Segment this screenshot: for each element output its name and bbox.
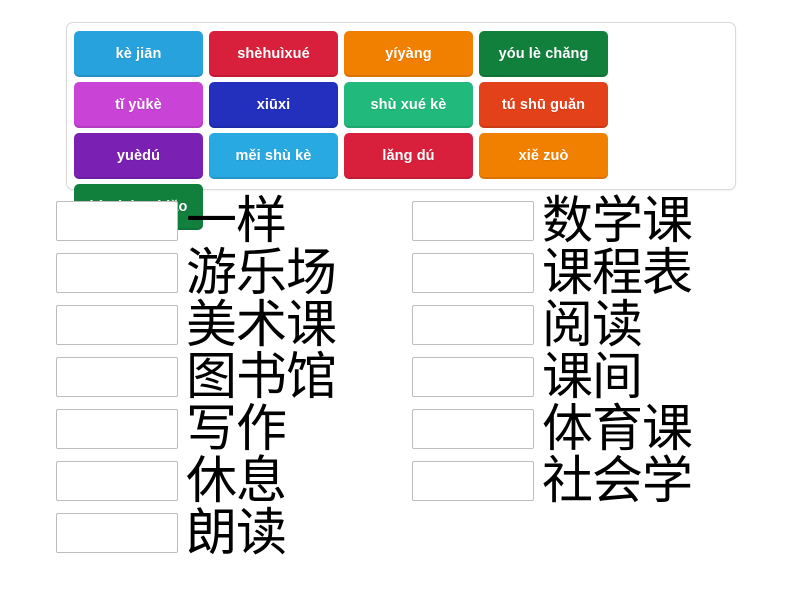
- answer-drop-box-left-4[interactable]: [56, 357, 178, 397]
- word-tile[interactable]: lǎng dú: [344, 133, 473, 179]
- answer-label: 图书馆: [186, 352, 336, 403]
- answer-label: 一样: [186, 196, 286, 247]
- answer-row: 社会学: [412, 460, 757, 502]
- word-tile[interactable]: tú shū guǎn: [479, 82, 608, 128]
- answer-row: 体育课: [412, 408, 757, 450]
- answer-row: 朗读: [56, 512, 401, 554]
- answer-row: 阅读: [412, 304, 757, 346]
- answer-row: 课间: [412, 356, 757, 398]
- answer-drop-box-left-1[interactable]: [56, 201, 178, 241]
- answer-label: 阅读: [542, 300, 642, 351]
- word-tile-tray: kè jiānshèhuìxuéyíyàngyóu lè chǎngtǐ yùk…: [66, 22, 736, 190]
- answer-label: 社会学: [542, 456, 692, 507]
- answer-column-right: 数学课课程表阅读课间体育课社会学: [412, 200, 757, 512]
- answer-drop-box-right-5[interactable]: [412, 409, 534, 449]
- answer-drop-box-left-6[interactable]: [56, 461, 178, 501]
- word-tile[interactable]: yóu lè chǎng: [479, 31, 608, 77]
- answer-label: 朗读: [186, 508, 286, 559]
- answer-label: 数学课: [542, 196, 692, 247]
- answer-row: 图书馆: [56, 356, 401, 398]
- answer-drop-box-right-1[interactable]: [412, 201, 534, 241]
- answer-drop-box-right-4[interactable]: [412, 357, 534, 397]
- answer-column-left: 一样游乐场美术课图书馆写作休息朗读: [56, 200, 401, 564]
- answer-drop-box-left-5[interactable]: [56, 409, 178, 449]
- answer-drop-box-right-3[interactable]: [412, 305, 534, 345]
- word-tile[interactable]: yíyàng: [344, 31, 473, 77]
- answer-drop-box-right-2[interactable]: [412, 253, 534, 293]
- answer-label: 休息: [186, 456, 286, 507]
- word-tile[interactable]: shèhuìxué: [209, 31, 338, 77]
- answer-row: 课程表: [412, 252, 757, 294]
- word-tile[interactable]: shù xué kè: [344, 82, 473, 128]
- answer-drop-box-right-6[interactable]: [412, 461, 534, 501]
- answer-label: 体育课: [542, 404, 692, 455]
- answer-drop-box-left-3[interactable]: [56, 305, 178, 345]
- word-tile[interactable]: yuèdú: [74, 133, 203, 179]
- answer-label: 课程表: [542, 248, 692, 299]
- answer-row: 数学课: [412, 200, 757, 242]
- answer-label: 游乐场: [186, 248, 336, 299]
- answer-row: 游乐场: [56, 252, 401, 294]
- word-tile[interactable]: tǐ yùkè: [74, 82, 203, 128]
- answer-row: 休息: [56, 460, 401, 502]
- match-up-activity: kè jiānshèhuìxuéyíyàngyóu lè chǎngtǐ yùk…: [0, 0, 800, 600]
- word-tile[interactable]: měi shù kè: [209, 133, 338, 179]
- answer-drop-box-left-2[interactable]: [56, 253, 178, 293]
- answer-row: 写作: [56, 408, 401, 450]
- answer-label: 美术课: [186, 300, 336, 351]
- answer-drop-box-left-7[interactable]: [56, 513, 178, 553]
- answer-row: 美术课: [56, 304, 401, 346]
- word-tile[interactable]: kè jiān: [74, 31, 203, 77]
- word-tile[interactable]: xiě zuò: [479, 133, 608, 179]
- answer-label: 写作: [186, 404, 286, 455]
- answer-row: 一样: [56, 200, 401, 242]
- word-tile[interactable]: xiūxi: [209, 82, 338, 128]
- answer-label: 课间: [542, 352, 642, 403]
